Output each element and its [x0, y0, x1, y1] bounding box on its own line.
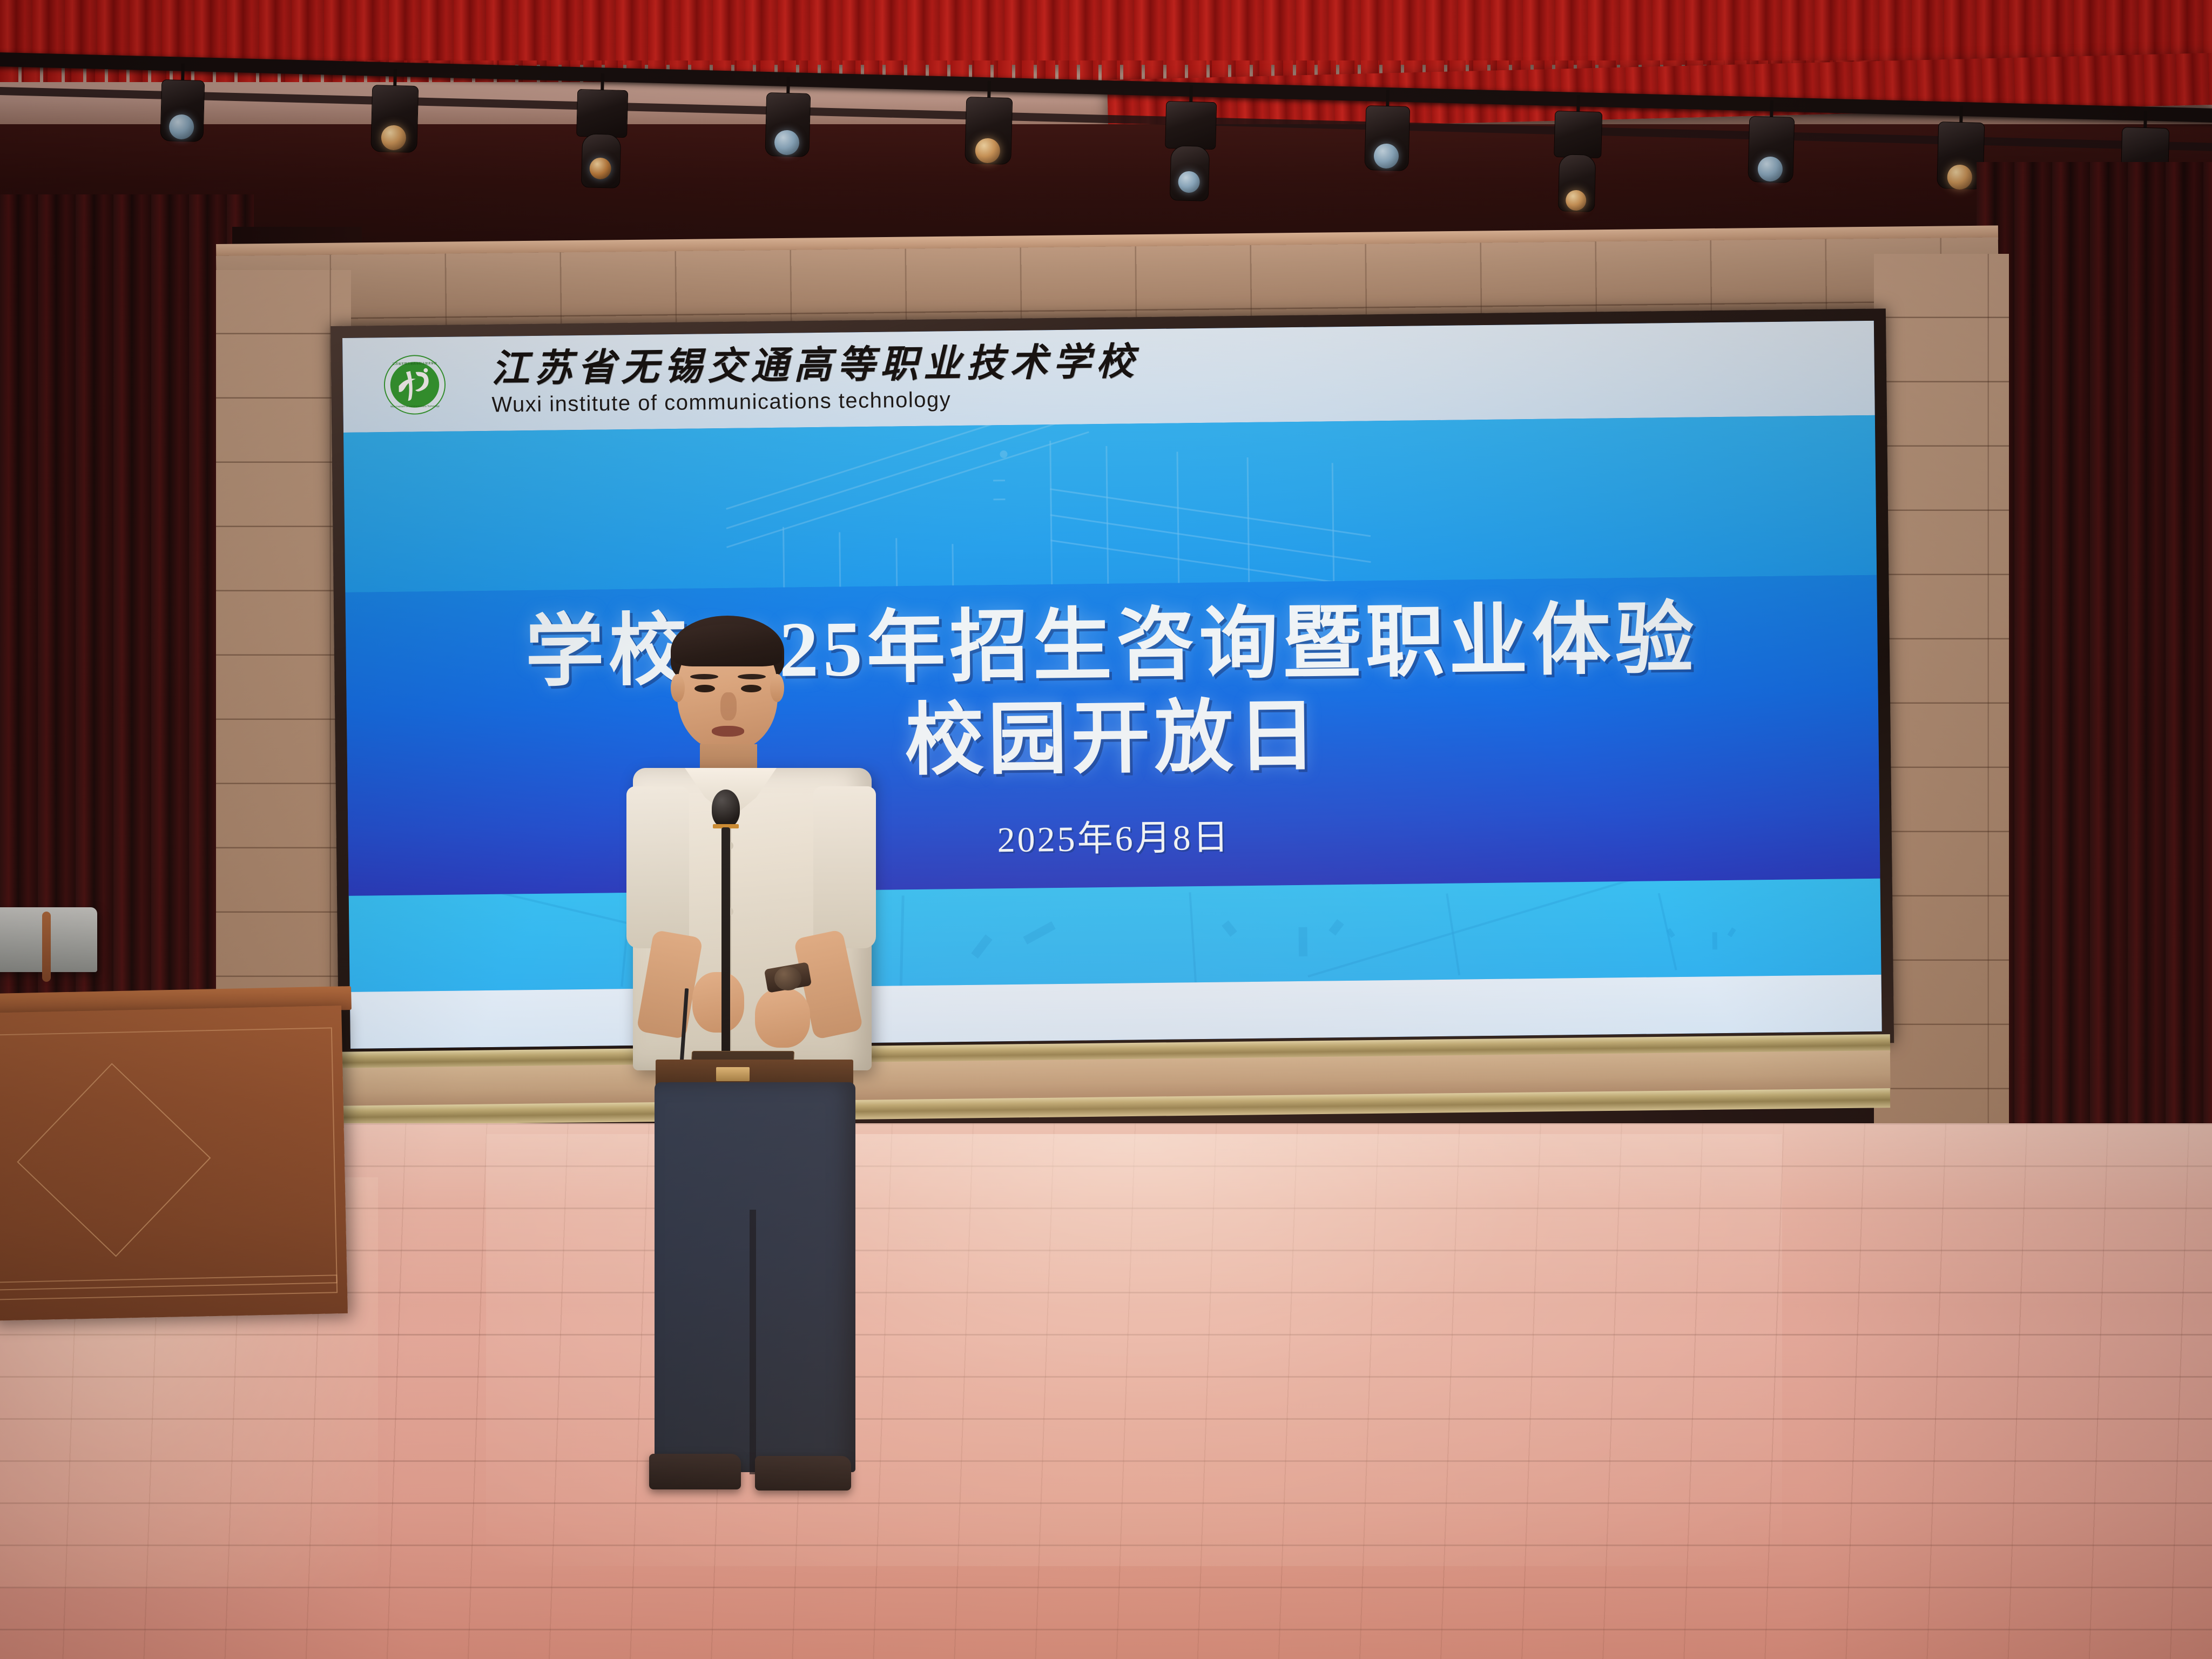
microphone-stem	[721, 827, 730, 1069]
stage-light-fixture	[160, 63, 204, 145]
school-name-cn: 江苏省无锡交通高等职业技术学校	[491, 343, 1139, 389]
school-name-en: Wuxi institute of communications technol…	[491, 386, 1139, 417]
stage-light-fixture	[765, 76, 810, 161]
eye-left	[694, 685, 715, 692]
eye-right	[741, 685, 761, 692]
svg-text:Wuxi Institute of Communicatio: Wuxi Institute of Communications Technol…	[390, 404, 440, 408]
sleeve-right	[813, 786, 876, 948]
screen-title-block: 学校2025年招生咨询暨职业体验 校园开放日 2025年6月8日	[346, 591, 1880, 870]
moving-head-light	[1552, 95, 1602, 220]
eyebrow-left	[690, 674, 718, 679]
ear-left	[671, 674, 685, 702]
hand-right	[755, 988, 810, 1048]
screen-band-lower	[349, 879, 1881, 992]
red-valance-curtain	[0, 0, 2212, 65]
led-presentation-screen: 江苏省无锡交通高等职业技术学校 Wuxi Institute of Commun…	[342, 321, 1882, 1049]
auditorium-stage-scene: 江苏省无锡交通高等职业技术学校 Wuxi Institute of Commun…	[0, 0, 2212, 1659]
campus-road-watermark	[349, 879, 1881, 992]
moving-head-light	[1164, 85, 1216, 202]
ear-right	[770, 674, 784, 702]
screen-header-band: 江苏省无锡交通高等职业技术学校 Wuxi Institute of Commun…	[342, 321, 1875, 433]
podium-lectern[interactable]	[0, 1006, 348, 1321]
shoe-right	[755, 1456, 851, 1491]
wristwatch-face	[774, 967, 801, 990]
title-line-1: 学校2025年招生咨询暨职业体验	[346, 591, 1878, 701]
nose	[720, 692, 737, 720]
school-emblem-logo: 江苏省无锡交通高等职业技术学校 Wuxi Institute of Commun…	[382, 352, 447, 416]
campus-building-watermark	[711, 427, 1418, 592]
stage-light-fixture	[965, 80, 1012, 169]
shoe-left	[649, 1454, 741, 1489]
microphone-head	[712, 790, 740, 827]
stage-light-fixture	[370, 69, 418, 156]
belt-buckle	[716, 1067, 750, 1081]
trouser-leg-split	[750, 1210, 756, 1474]
chair-arm	[42, 912, 51, 982]
hairline	[673, 624, 782, 666]
stage-light-fixture	[1748, 100, 1794, 187]
mouth	[712, 726, 744, 737]
screen-band-upper	[343, 415, 1877, 592]
sleeve-left	[626, 786, 689, 948]
speaker-person	[621, 616, 880, 1328]
stage-light-fixture	[1364, 89, 1410, 174]
school-name-group: 江苏省无锡交通高等职业技术学校 Wuxi institute of commun…	[491, 343, 1139, 417]
eyebrow-right	[738, 674, 766, 679]
moving-head-light	[575, 73, 628, 187]
hand-left	[692, 972, 744, 1033]
title-line-2: 校园开放日	[347, 684, 1879, 794]
side-curtain-right	[1977, 162, 2212, 1161]
stone-pilaster-right	[1874, 254, 2009, 1172]
